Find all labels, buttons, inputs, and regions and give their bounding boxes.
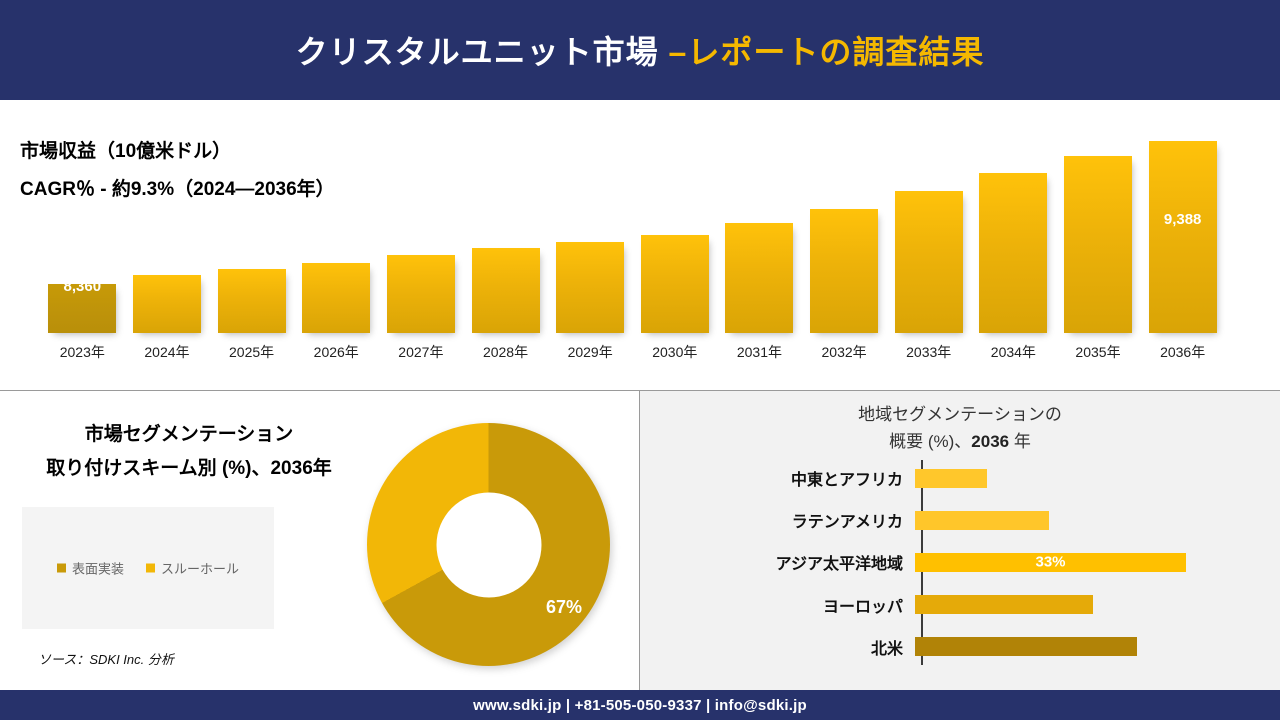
page-title-accent: –レポートの調査結果 [669, 34, 985, 70]
x-axis-label-2026年: 2026年 [294, 342, 379, 368]
bar-2024年 [133, 275, 201, 333]
market-segmentation-panel: 市場セグメンテーション 取り付けスキーム別 (%)、2036年 表面実装スルーホ… [0, 391, 640, 690]
legend-swatch-icon [146, 564, 155, 573]
bar-slot: 8,360 [40, 133, 125, 333]
bar-value-label: 9,388 [1149, 211, 1217, 228]
regional-title: 地域セグメンテーションの 概要 (%)、2036 年 [640, 401, 1280, 455]
regional-bar-track [915, 503, 1280, 537]
regional-bar-rows: 中東とアフリカラテンアメリカアジア太平洋地域33%ヨーロッパ北米 [640, 457, 1280, 668]
bar-2025年 [218, 269, 286, 333]
regional-bar-row: ラテンアメリカ [640, 503, 1280, 537]
source-note: ソース：SDKI Inc. 分析 [38, 649, 174, 668]
regional-label-中東とアフリカ: 中東とアフリカ [640, 466, 915, 490]
page-title-main: クリスタルユニット市場 [296, 34, 669, 70]
bar-slot [1056, 133, 1141, 333]
regional-title-line-1: 地域セグメンテーションの [640, 401, 1280, 428]
bar-x-axis-labels: 2023年2024年2025年2026年2027年2028年2029年2030年… [40, 342, 1225, 368]
x-axis-label-2024年: 2024年 [125, 342, 210, 368]
market-revenue-section: 市場収益（10億米ドル） CAGR％ - 約9.3%（2024―2036年） 8… [0, 100, 1280, 391]
x-axis-label-2030年: 2030年 [632, 342, 717, 368]
bar-2034年 [979, 173, 1047, 333]
revenue-bar-chart: 8,3609,388 2023年2024年2025年2026年2027年2028… [40, 100, 1240, 390]
legend-item-0[interactable]: 表面実装 [57, 559, 124, 578]
regional-bar-ヨーロッパ [915, 595, 1093, 614]
regional-bar-アジア太平洋地域: 33% [915, 553, 1186, 572]
page-title: クリスタルユニット市場 –レポートの調査結果 [296, 27, 985, 73]
regional-bar-row: アジア太平洋地域33% [640, 545, 1280, 579]
regional-label-ヨーロッパ: ヨーロッパ [640, 593, 915, 617]
bar-2028年 [472, 248, 540, 333]
bar-slot [209, 133, 294, 333]
segmentation-title: 市場セグメンテーション 取り付けスキーム別 (%)、2036年 [14, 418, 364, 486]
legend-label: 表面実装 [72, 559, 124, 578]
legend-swatch-icon [57, 564, 66, 573]
x-axis-label-2025年: 2025年 [209, 342, 294, 368]
regional-label-北米: 北米 [640, 635, 915, 659]
bar-slot [125, 133, 210, 333]
regional-bar-row: ヨーロッパ [640, 588, 1280, 622]
regional-bar-ラテンアメリカ [915, 511, 1049, 530]
regional-bar-chart: 中東とアフリカラテンアメリカアジア太平洋地域33%ヨーロッパ北米 [640, 457, 1280, 672]
bar-slot: 9,388 [1140, 133, 1225, 333]
bar-slot [717, 133, 802, 333]
x-axis-label-2023年: 2023年 [40, 342, 125, 368]
segmentation-title-line-1: 市場セグメンテーション [14, 418, 364, 452]
regional-bar-track [915, 461, 1280, 495]
regional-label-アジア太平洋地域: アジア太平洋地域 [640, 550, 915, 574]
footer-banner: www.sdki.jp | +81-505-050-9337 | info@sd… [0, 690, 1280, 720]
regional-segmentation-panel: 地域セグメンテーションの 概要 (%)、2036 年 中東とアフリカラテンアメリ… [640, 391, 1280, 690]
x-axis-label-2031年: 2031年 [717, 342, 802, 368]
x-axis-label-2027年: 2027年 [379, 342, 464, 368]
x-axis-label-2035年: 2035年 [1056, 342, 1141, 368]
regional-bar-track [915, 630, 1280, 664]
regional-bar-track [915, 588, 1280, 622]
bar-slot [294, 133, 379, 333]
legend-label: スルーホール [161, 559, 239, 578]
x-axis-label-2028年: 2028年 [463, 342, 548, 368]
segmentation-donut-chart: 67% [367, 423, 610, 666]
x-axis-label-2029年: 2029年 [548, 342, 633, 368]
segmentation-legend: 表面実装スルーホール [22, 507, 274, 629]
bar-2026年 [302, 263, 370, 333]
bar-2023年: 8,360 [48, 284, 116, 333]
bar-2027年 [387, 255, 455, 333]
regional-title-year: 2036 [971, 432, 1009, 451]
bar-slot [379, 133, 464, 333]
x-axis-label-2036年: 2036年 [1140, 342, 1225, 368]
bar-slot [548, 133, 633, 333]
bar-2031年 [725, 223, 793, 333]
segmentation-legend-items: 表面実装スルーホール [22, 559, 274, 578]
bar-slot [886, 133, 971, 333]
bar-value-label: 8,360 [48, 278, 116, 295]
regional-title-suffix: 年 [1009, 432, 1031, 451]
infographic-page: クリスタルユニット市場 –レポートの調査結果 市場収益（10億米ドル） CAGR… [0, 0, 1280, 720]
bar-2035年 [1064, 156, 1132, 333]
donut-percentage-label: 67% [546, 597, 582, 618]
x-axis-label-2033年: 2033年 [886, 342, 971, 368]
regional-bar-row: 北米 [640, 630, 1280, 664]
segmentation-title-line-2: 取り付けスキーム別 (%)、2036年 [14, 452, 364, 486]
footer-contact-text: www.sdki.jp | +81-505-050-9337 | info@sd… [473, 697, 807, 714]
bar-2030年 [641, 235, 709, 333]
regional-bar-track: 33% [915, 545, 1280, 579]
bar-slot [632, 133, 717, 333]
bar-slot [463, 133, 548, 333]
regional-bar-北米 [915, 637, 1137, 656]
x-axis-label-2032年: 2032年 [802, 342, 887, 368]
regional-bar-中東とアフリカ [915, 469, 987, 488]
bar-slot [802, 133, 887, 333]
donut-hole [436, 492, 541, 597]
bar-series: 8,3609,388 [40, 133, 1225, 333]
bar-2032年 [810, 209, 878, 333]
bar-2036年: 9,388 [1149, 141, 1217, 333]
header-banner: クリスタルユニット市場 –レポートの調査結果 [0, 0, 1280, 100]
regional-label-ラテンアメリカ: ラテンアメリカ [640, 508, 915, 532]
regional-title-prefix: 概要 (%)、 [889, 432, 971, 451]
x-axis-label-2034年: 2034年 [971, 342, 1056, 368]
legend-item-1[interactable]: スルーホール [146, 559, 239, 578]
regional-bar-value-label: 33% [915, 554, 1186, 571]
regional-title-line-2: 概要 (%)、2036 年 [640, 428, 1280, 455]
bar-2033年 [895, 191, 963, 333]
regional-bar-row: 中東とアフリカ [640, 461, 1280, 495]
bar-slot [971, 133, 1056, 333]
bar-2029年 [556, 242, 624, 333]
